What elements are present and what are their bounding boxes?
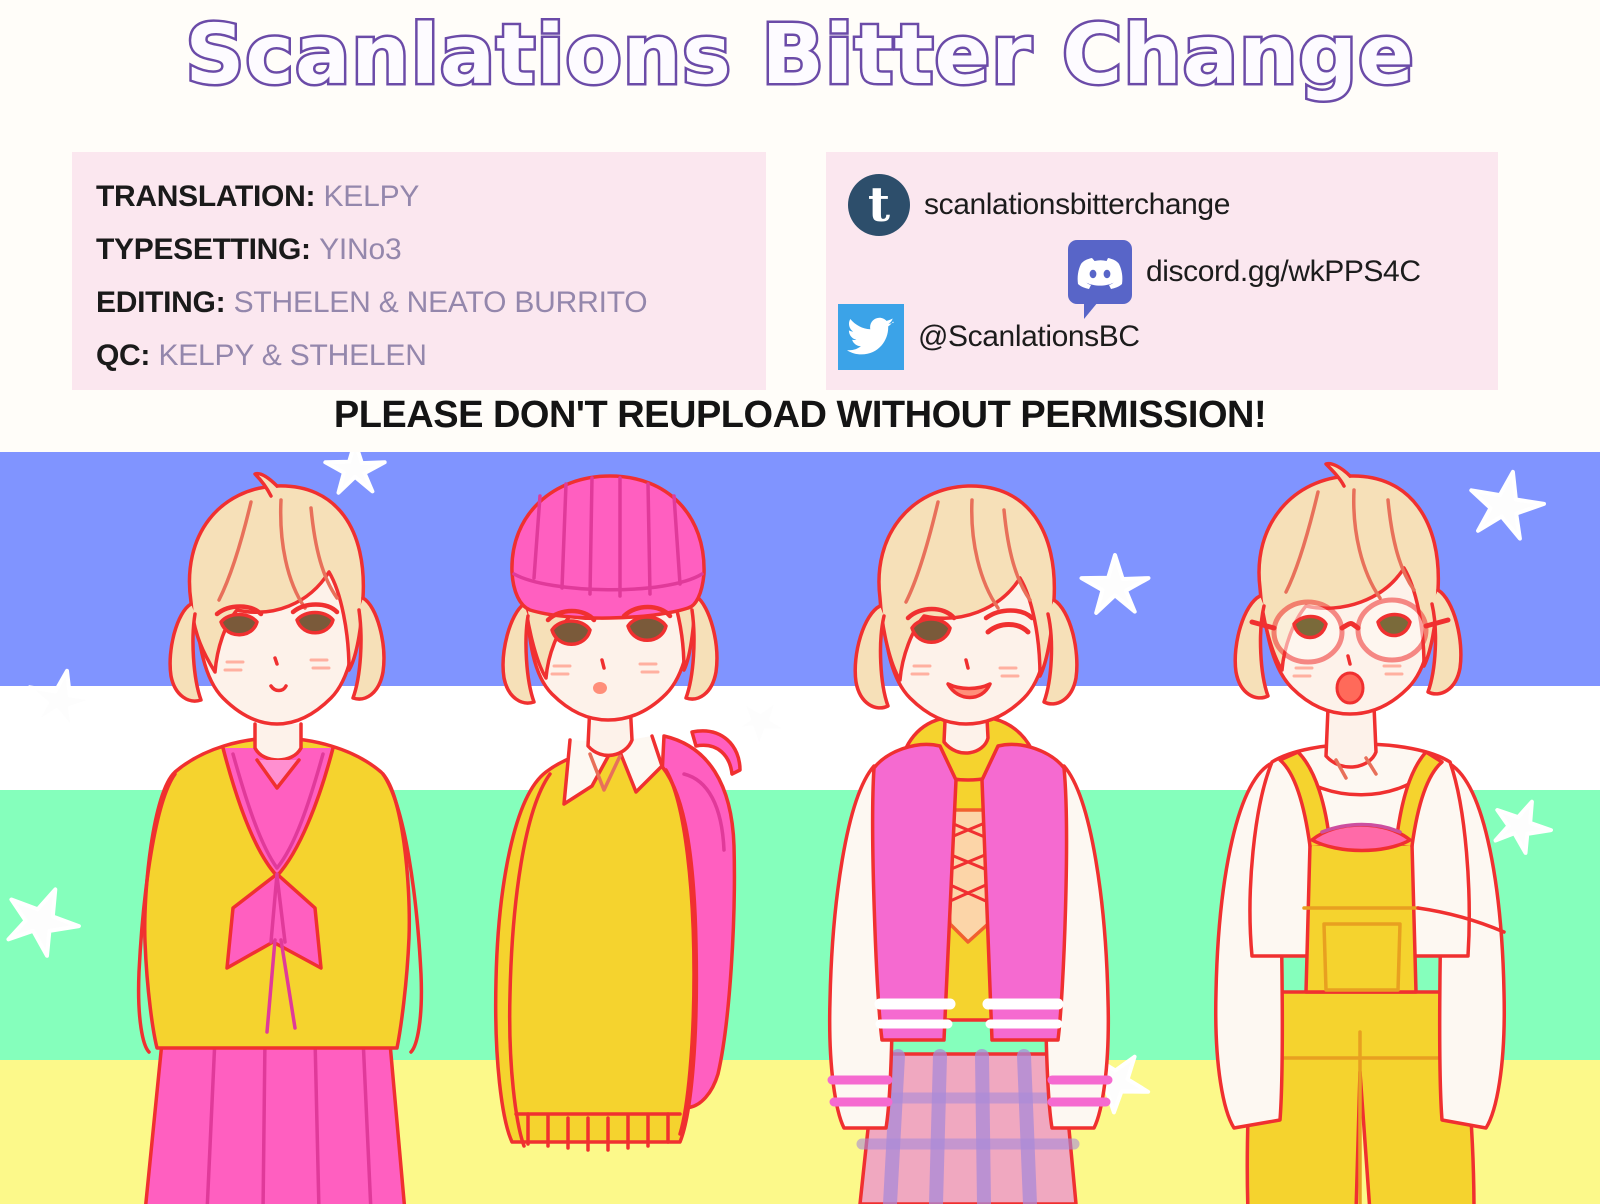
credit-name-value: KELPY & STHELEN (158, 339, 426, 372)
credit-role-label: QC: (96, 339, 150, 372)
credit-role-label: EDITING: (96, 286, 225, 319)
illustration-panel (0, 452, 1600, 1204)
credit-row-translation: TRANSLATION: KELPY (96, 170, 766, 223)
discord-icon (1068, 240, 1132, 304)
social-row-discord[interactable]: discord.gg/wkPPS4C (1068, 240, 1421, 304)
character-beanie-sweater-backpack (440, 474, 780, 1204)
credit-name-value: KELPY (324, 180, 420, 213)
page-title: Scanlations Bitter Change (0, 8, 1600, 103)
tumblr-handle: scanlationsbitterchange (924, 188, 1230, 222)
discord-invite-link: discord.gg/wkPPS4C (1146, 255, 1421, 289)
credits-box: TRANSLATION: KELPY TYPESETTING: YINo3 ED… (72, 152, 766, 390)
character-glasses-overalls (1160, 472, 1540, 1204)
social-links-box: t scanlationsbitterchange discord.gg/wkP… (826, 152, 1498, 390)
character-winking-varsity-jacket (790, 480, 1150, 1204)
twitter-handle: @ScanlationsBC (918, 320, 1140, 354)
credit-role-label: TYPESETTING: (96, 233, 311, 266)
social-row-tumblr[interactable]: t scanlationsbitterchange (848, 174, 1230, 236)
credit-name-value: YINo3 (319, 233, 401, 266)
twitter-icon (838, 304, 904, 370)
credit-name-value: STHELEN & NEATO BURRITO (234, 286, 648, 319)
credits-header: Scanlations Bitter Change TRANSLATION: K… (0, 0, 1600, 452)
tumblr-icon: t (848, 174, 910, 236)
social-row-twitter[interactable]: @ScanlationsBC (838, 304, 1140, 370)
credit-role-label: TRANSLATION: (96, 180, 315, 213)
reupload-warning-text: PLEASE DON'T REUPLOAD WITHOUT PERMISSION… (0, 394, 1600, 437)
credit-row-editing: EDITING: STHELEN & NEATO BURRITO (96, 276, 766, 329)
character-schoolgirl-sailor-uniform (105, 472, 465, 1204)
credit-row-typesetting: TYPESETTING: YINo3 (96, 223, 766, 276)
credit-row-qc: QC: KELPY & STHELEN (96, 329, 766, 382)
